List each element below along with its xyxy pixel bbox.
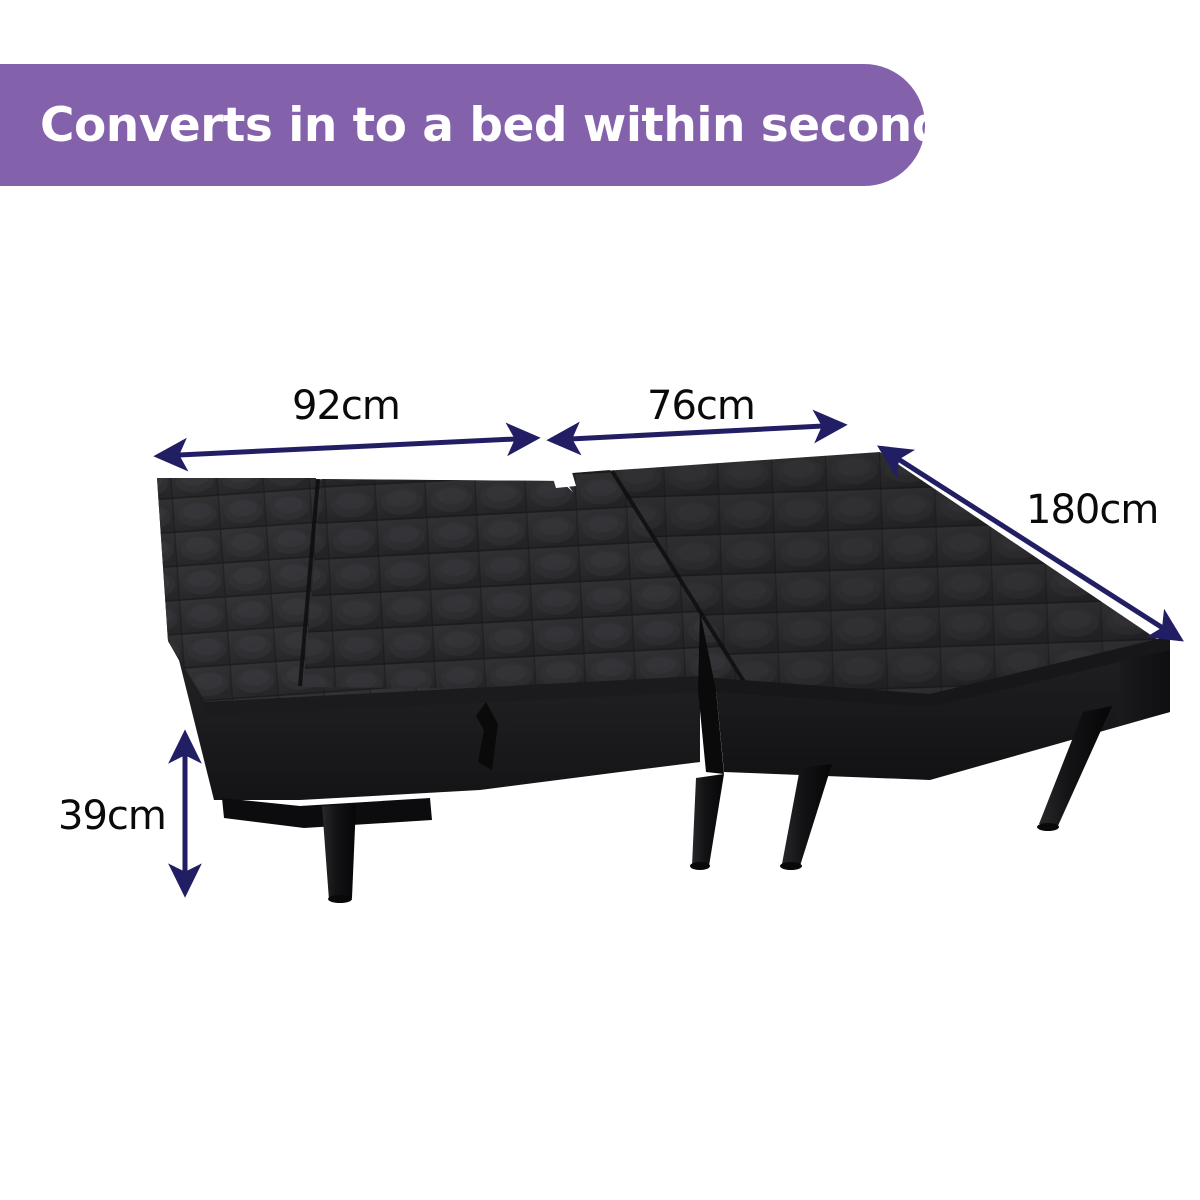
product-dimension-infographic: Converts in to a bed within seconds bbox=[0, 0, 1200, 1200]
sofa-bed-body bbox=[157, 452, 1170, 903]
arrow-92cm bbox=[158, 438, 536, 456]
leg-front-left-foot bbox=[328, 895, 352, 903]
dimension-label-76cm: 76cm bbox=[647, 383, 755, 429]
dimension-label-180cm: 180cm bbox=[1026, 487, 1158, 533]
left-cushion-outer bbox=[157, 478, 316, 690]
leg-far-right-foot bbox=[1037, 823, 1059, 831]
dimension-label-39cm: 39cm bbox=[58, 793, 166, 839]
leg-centre-left-foot bbox=[690, 862, 710, 870]
leg-front-left bbox=[322, 804, 356, 900]
leg-centre-left bbox=[692, 774, 724, 866]
sofa-bed-illustration bbox=[0, 0, 1200, 1200]
leg-centre-right-foot bbox=[780, 862, 802, 870]
leg-centre-right bbox=[782, 764, 832, 866]
dimension-label-92cm: 92cm bbox=[292, 383, 400, 429]
